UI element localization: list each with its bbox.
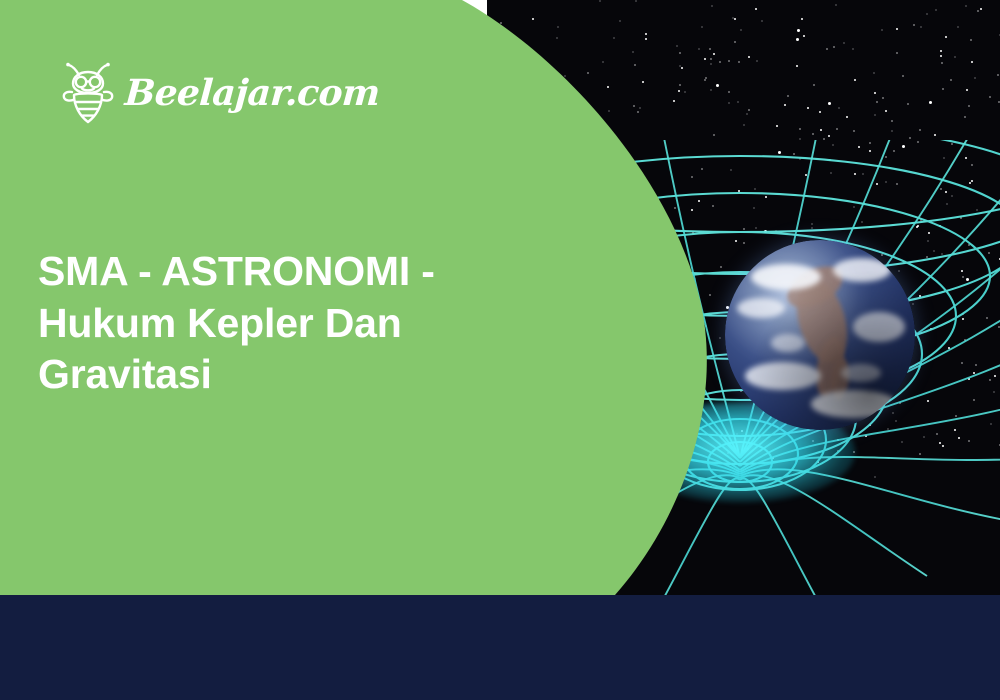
page-title: SMA - ASTRONOMI - Hukum Kepler Dan Gravi… <box>38 246 518 401</box>
footer-bar <box>0 595 1000 700</box>
bee-icon <box>60 62 116 124</box>
brand-name: Beelajar.com <box>124 75 381 111</box>
brand-logo[interactable]: Beelajar.com <box>60 62 380 124</box>
thumbnail-canvas: Beelajar.com SMA - ASTRONOMI - Hukum Kep… <box>0 0 1000 700</box>
